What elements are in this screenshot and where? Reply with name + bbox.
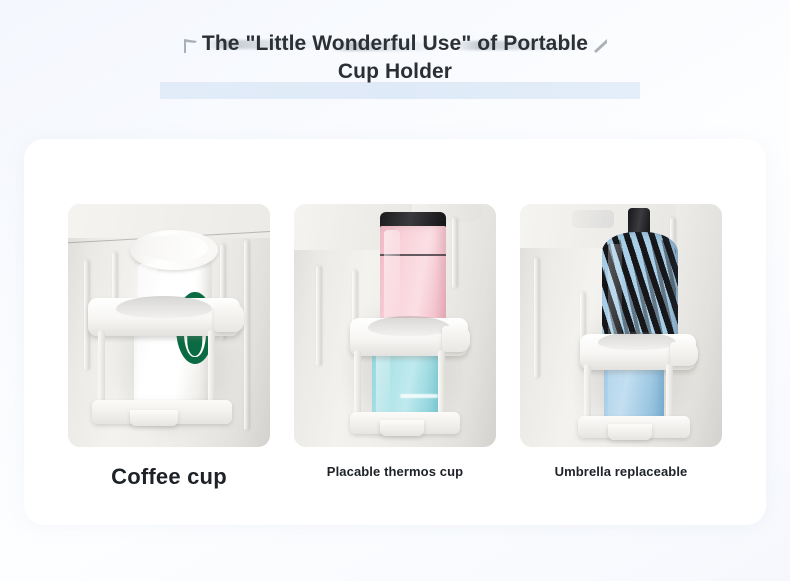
luggage-groove-d bbox=[244, 240, 249, 430]
cup-holder-side-lip bbox=[670, 342, 698, 366]
umbrella-ribs bbox=[604, 238, 676, 340]
product-photo-umbrella[interactable] bbox=[520, 204, 722, 447]
cup-holder-opening bbox=[368, 316, 450, 336]
cup-holder-strut-left bbox=[354, 350, 361, 420]
cup-holder-base-tab bbox=[130, 410, 178, 426]
cup-holder-side-lip bbox=[214, 304, 244, 332]
feature-caption-coffee: Coffee cup bbox=[68, 464, 270, 490]
tumbler-brand-mark bbox=[400, 394, 438, 398]
cup-holder-opening bbox=[598, 332, 676, 350]
luggage-groove-c bbox=[452, 218, 457, 288]
product-photo-thermos[interactable] bbox=[294, 204, 496, 447]
feature-panel-thermos[interactable]: Placable thermos cup bbox=[294, 204, 496, 490]
feature-panel-list: Coffee cup bbox=[68, 204, 722, 490]
page-title: The "Little Wonderful Use" of Portable C… bbox=[154, 30, 636, 86]
luggage-groove-a bbox=[316, 266, 321, 366]
feature-caption-thermos: Placable thermos cup bbox=[294, 464, 496, 479]
cup-holder-strut-right bbox=[208, 330, 215, 406]
cup-holder-base-tab bbox=[608, 424, 652, 440]
cup-holder-opening bbox=[116, 296, 212, 318]
cup-holder-base-tab bbox=[380, 420, 424, 436]
cup-holder-side-lip bbox=[442, 326, 470, 352]
luggage-groove-a bbox=[534, 258, 539, 378]
cup-holder-strut-left bbox=[98, 330, 105, 406]
content-card: Coffee cup bbox=[24, 139, 766, 525]
product-photo-coffee[interactable] bbox=[68, 204, 270, 447]
page-header: The "Little Wonderful Use" of Portable C… bbox=[0, 30, 790, 86]
feature-panel-umbrella[interactable]: Umbrella replaceable bbox=[520, 204, 722, 490]
cup-holder-strut-right bbox=[438, 350, 445, 420]
feature-panel-coffee[interactable]: Coffee cup bbox=[68, 204, 270, 490]
coffee-cup-lid-inner bbox=[140, 235, 208, 261]
thermos-ring bbox=[380, 254, 446, 256]
luggage-latch bbox=[572, 210, 614, 228]
feature-caption-umbrella: Umbrella replaceable bbox=[520, 464, 722, 479]
